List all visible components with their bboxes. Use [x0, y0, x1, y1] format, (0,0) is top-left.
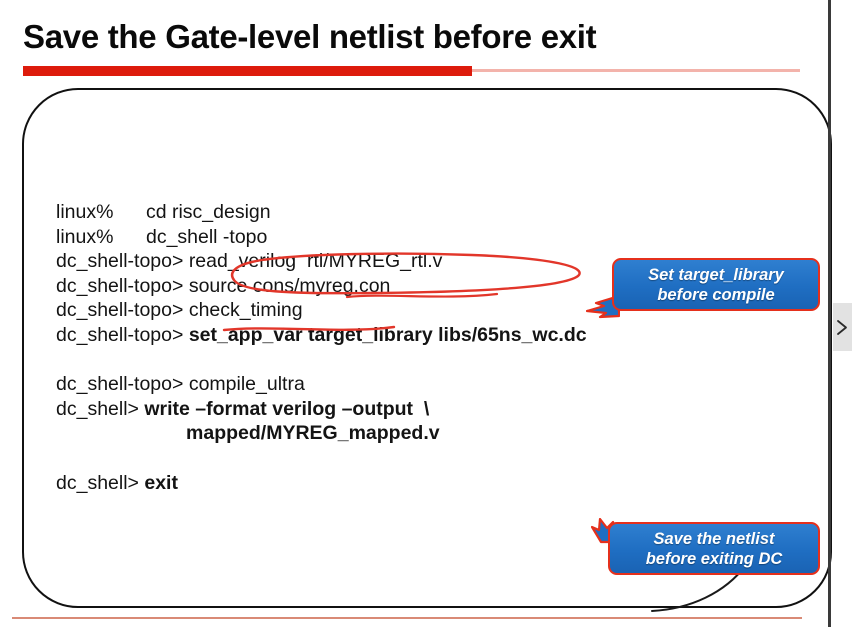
bottom-rule — [12, 617, 802, 619]
code-line: dc_shell-topo> compile_ultra — [56, 372, 587, 397]
chevron-right-icon — [836, 319, 849, 336]
code-line — [56, 348, 587, 373]
code-prompt: dc_shell> — [56, 472, 139, 494]
code-line — [56, 446, 587, 471]
callout-set-target-library: Set target_library before compile — [612, 258, 820, 311]
page-title: Save the Gate-level netlist before exit — [23, 18, 823, 56]
code-prompt: dc_shell-topo> — [56, 324, 183, 346]
code-command: mapped/MYREG_mapped.v — [186, 422, 440, 444]
code-command: cd risc_design — [146, 201, 271, 223]
code-line: dc_shell> write –format verilog –output … — [56, 397, 587, 422]
title-rule-accent — [23, 66, 472, 76]
callout-save-netlist: Save the netlist before exiting DC — [608, 522, 820, 575]
code-prompt: linux% — [56, 201, 113, 223]
next-slide-button[interactable] — [833, 303, 852, 351]
code-line: linux% dc_shell -topo — [56, 225, 587, 250]
code-prompt: dc_shell-topo> — [56, 299, 183, 321]
callout-line-1: Save the netlist — [621, 529, 807, 549]
code-command: write –format verilog –output \ — [144, 398, 429, 420]
code-prompt: dc_shell-topo> — [56, 250, 183, 272]
code-command: compile_ultra — [189, 373, 305, 395]
code-line: dc_shell-topo> set_app_var target_librar… — [56, 323, 587, 348]
code-prompt: dc_shell> — [56, 398, 139, 420]
code-command: dc_shell -topo — [146, 226, 267, 248]
code-listing: linux% cd risc_designlinux% dc_shell -to… — [56, 200, 587, 495]
code-command: exit — [144, 472, 178, 494]
code-command: source cons/myreg.con — [189, 275, 391, 297]
code-line: linux% cd risc_design — [56, 200, 587, 225]
code-command: check_timing — [189, 299, 303, 321]
code-line: dc_shell-topo> read_verilog rtl/MYREG_rt… — [56, 249, 587, 274]
code-command: set_app_var target_library libs/65ns_wc.… — [189, 324, 587, 346]
callout-line-1: Set target_library — [625, 265, 807, 285]
code-command: read_verilog rtl/MYREG_rtl.v — [189, 250, 443, 272]
viewer-divider — [828, 0, 831, 627]
slide-canvas: Save the Gate-level netlist before exit … — [0, 0, 852, 627]
code-line: dc_shell-topo> source cons/myreg.con — [56, 274, 587, 299]
code-line: dc_shell> exit — [56, 471, 587, 496]
callout-line-2: before compile — [625, 285, 807, 305]
code-line: dc_shell-topo> check_timing — [56, 298, 587, 323]
callout-line-2: before exiting DC — [621, 549, 807, 569]
code-prompt: linux% — [56, 226, 113, 248]
code-prompt: dc_shell-topo> — [56, 275, 183, 297]
code-prompt: dc_shell-topo> — [56, 373, 183, 395]
code-line: mapped/MYREG_mapped.v — [56, 421, 587, 446]
